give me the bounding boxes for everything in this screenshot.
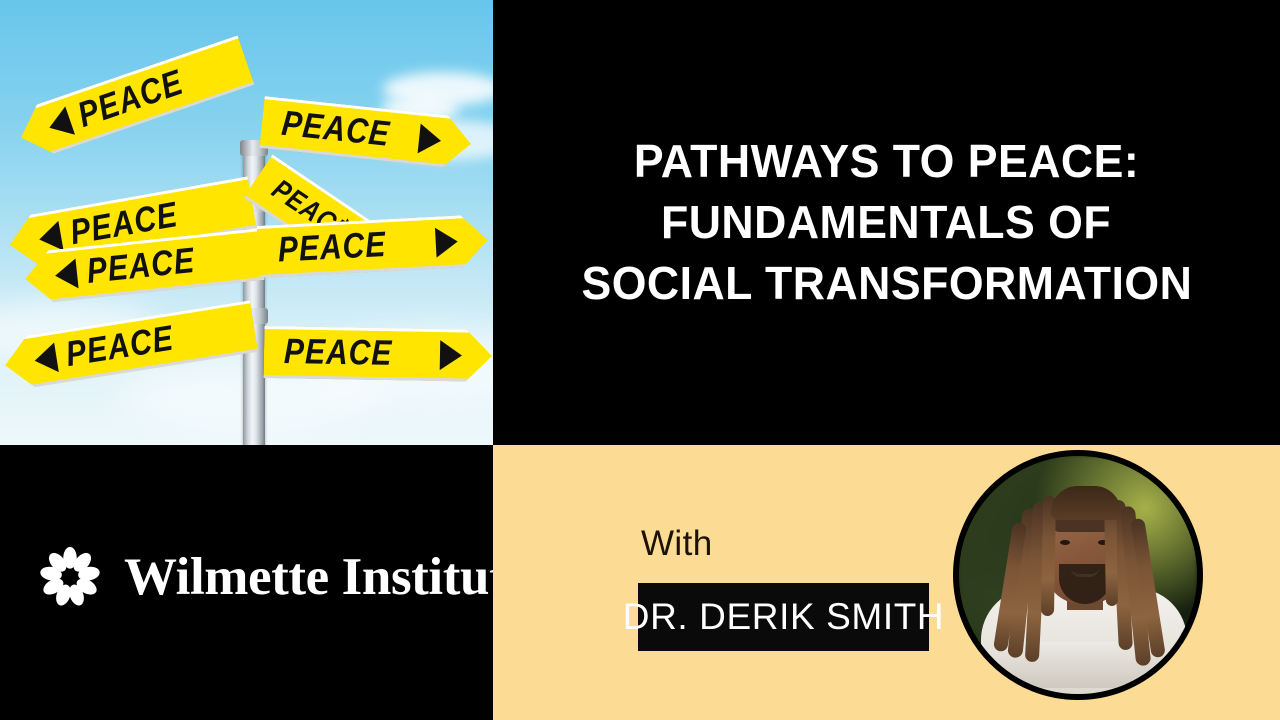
chevron-left-icon xyxy=(54,259,79,291)
with-label: With xyxy=(641,524,713,564)
peace-sign: PEACE xyxy=(264,326,493,382)
title-line-2: FUNDAMENTALS OF xyxy=(661,192,1111,253)
chevron-right-icon xyxy=(440,340,463,370)
chevron-left-icon xyxy=(32,342,58,375)
chevron-right-icon xyxy=(435,227,459,258)
logo-wordmark: Wilmette Institute xyxy=(124,551,529,604)
chevron-right-icon xyxy=(418,124,443,156)
portrait-eye xyxy=(1060,540,1070,545)
portrait-hair-top xyxy=(1051,486,1121,520)
promo-slide: PEACE PEACE PEACE PEACE PEACE PEACE xyxy=(0,0,1280,720)
peace-signpost-photo: PEACE PEACE PEACE PEACE PEACE PEACE xyxy=(0,0,493,445)
speaker-name: DR. DERIK SMITH xyxy=(623,596,944,638)
title-line-3: SOCIAL TRANSFORMATION xyxy=(581,253,1192,314)
chevron-left-icon xyxy=(44,106,75,142)
title-block: PATHWAYS TO PEACE: FUNDAMENTALS OF SOCIA… xyxy=(493,0,1280,445)
title-panel: PATHWAYS TO PEACE: FUNDAMENTALS OF SOCIA… xyxy=(493,0,1280,445)
flower-rosette-icon xyxy=(38,545,102,609)
speaker-name-box: DR. DERIK SMITH xyxy=(638,583,929,651)
wilmette-institute-logo: Wilmette Institute xyxy=(38,545,529,609)
title-line-1: PATHWAYS TO PEACE: xyxy=(634,131,1139,192)
speaker-portrait xyxy=(953,450,1203,700)
